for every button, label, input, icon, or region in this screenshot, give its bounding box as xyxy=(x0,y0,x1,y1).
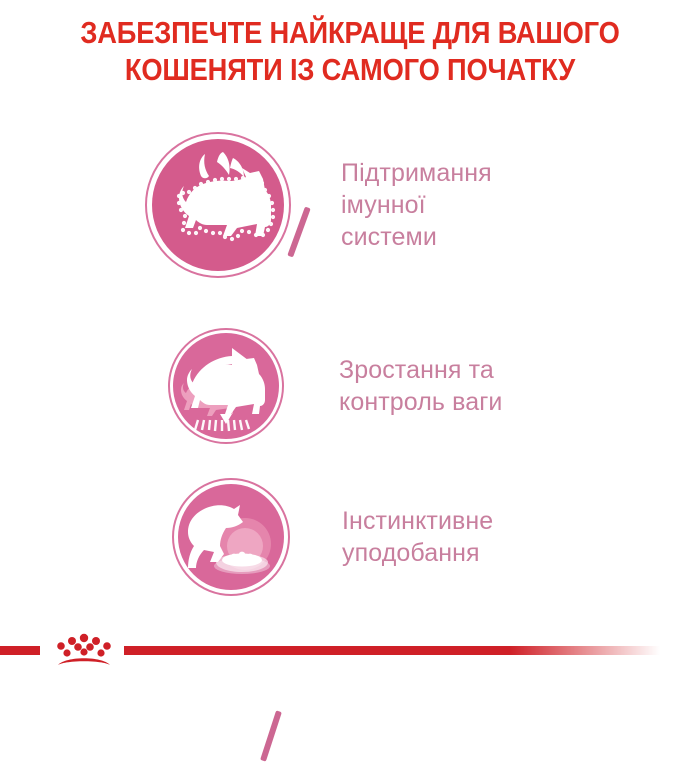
brand-bar-right xyxy=(124,646,660,655)
benefit-label-instinctive-preference: Інстинктивне уподобання xyxy=(342,505,493,569)
royal-canin-crown-logo xyxy=(48,630,120,670)
benefit-item-instinctive-preference: Інстинктивне уподобання xyxy=(172,478,493,596)
footer-brand-bar xyxy=(0,630,700,670)
benefit-item-immune-support: Підтримання імунної системи xyxy=(145,132,492,278)
eating-kitten-glyph xyxy=(172,478,290,596)
benefits-list: Підтримання імунної системи xyxy=(0,110,700,610)
immune-kitten-glyph xyxy=(145,132,291,278)
kitten-growth-arrow-scale-icon xyxy=(168,328,284,444)
brand-bar-left xyxy=(0,646,40,655)
connector-dash-bottom xyxy=(260,710,282,761)
kitten-eating-bowl-icon xyxy=(172,478,290,596)
benefit-label-growth-weight-control: Зростання та контроль ваги xyxy=(339,354,502,418)
kitten-dotted-outline-icon xyxy=(145,132,291,278)
page-headline: ЗАБЕЗПЕЧТЕ НАЙКРАЩЕ ДЛЯ ВАШОГО КОШЕНЯТИ … xyxy=(42,14,658,88)
benefit-label-immune-support: Підтримання імунної системи xyxy=(341,157,492,253)
benefit-item-growth-weight-control: Зростання та контроль ваги xyxy=(168,328,502,444)
growth-kitten-glyph xyxy=(168,328,284,444)
